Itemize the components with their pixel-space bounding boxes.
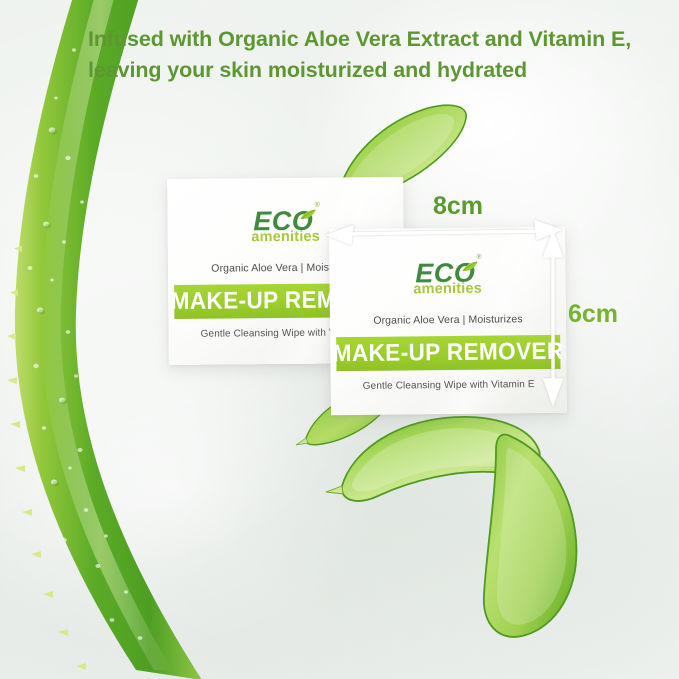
height-dimension-label: 6cm (568, 300, 618, 329)
product-name-band-front: MAKE-UP REMOVER (336, 335, 560, 371)
packet-subline-front: Gentle Cleansing Wipe with Vitamin E (331, 379, 567, 392)
product-marketing-image: ECO ® amenities Organic Aloe Vera | Mois… (0, 0, 679, 679)
width-dimension-label: 8cm (433, 192, 483, 221)
brand-logo-front: ECO ® amenities (329, 259, 565, 298)
page-headline: Infused with Organic Aloe Vera Extract a… (88, 24, 663, 86)
product-name-text-front: MAKE-UP REMOVER (333, 338, 564, 368)
leaf-icon-front (462, 261, 479, 273)
registered-mark-front: ® (470, 254, 489, 261)
headline-line-1: Infused with Organic Aloe Vera Extract a… (88, 24, 663, 55)
aloe-slice-large-right (436, 428, 626, 648)
registered-mark-back: ® (308, 202, 327, 209)
leaf-icon-back (300, 209, 317, 221)
headline-line-2: leaving your skin moisturized and hydrat… (88, 55, 663, 86)
product-packet-front: ECO ® amenities Organic Aloe Vera | Mois… (329, 227, 567, 415)
packet-tagline-front: Organic Aloe Vera | Moisturizes (330, 313, 566, 327)
